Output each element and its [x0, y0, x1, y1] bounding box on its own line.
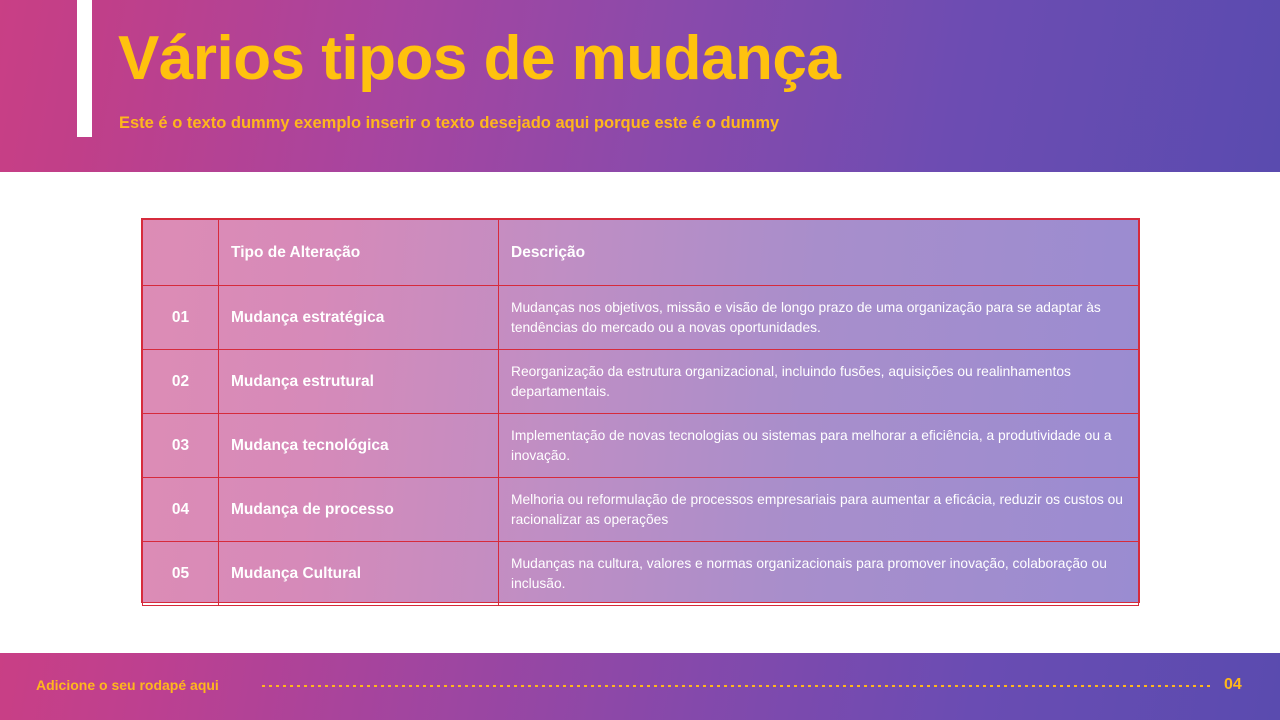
- footer-divider: [262, 685, 1214, 687]
- row-type: Mudança estrutural: [219, 350, 499, 414]
- row-description: Melhoria ou reformulação de processos em…: [499, 478, 1139, 542]
- table-header-cell-index: [143, 220, 219, 286]
- row-type: Mudança de processo: [219, 478, 499, 542]
- row-description: Mudanças nos objetivos, missão e visão d…: [499, 286, 1139, 350]
- row-number: 05: [143, 542, 219, 606]
- table-row: 04 Mudança de processo Melhoria ou refor…: [143, 478, 1139, 542]
- footer-text: Adicione o seu rodapé aqui: [36, 677, 219, 693]
- row-number: 04: [143, 478, 219, 542]
- row-description: Mudanças na cultura, valores e normas or…: [499, 542, 1139, 606]
- row-description: Reorganização da estrutura organizaciona…: [499, 350, 1139, 414]
- slide: Vários tipos de mudança Este é o texto d…: [0, 0, 1280, 720]
- change-types-table: Tipo de Alteração Descrição 01 Mudança e…: [141, 218, 1140, 603]
- row-type: Mudança Cultural: [219, 542, 499, 606]
- table-row: 05 Mudança Cultural Mudanças na cultura,…: [143, 542, 1139, 606]
- table-row: 03 Mudança tecnológica Implementação de …: [143, 414, 1139, 478]
- page-subtitle: Este é o texto dummy exemplo inserir o t…: [119, 114, 779, 133]
- table-row: 02 Mudança estrutural Reorganização da e…: [143, 350, 1139, 414]
- table-header-cell-type: Tipo de Alteração: [219, 220, 499, 286]
- row-type: Mudança tecnológica: [219, 414, 499, 478]
- table-header-cell-description: Descrição: [499, 220, 1139, 286]
- row-type: Mudança estratégica: [219, 286, 499, 350]
- table-row: 01 Mudança estratégica Mudanças nos obje…: [143, 286, 1139, 350]
- table: Tipo de Alteração Descrição 01 Mudança e…: [142, 219, 1139, 606]
- page-title: Vários tipos de mudança: [118, 26, 840, 91]
- header-accent-bar: [77, 0, 92, 137]
- row-number: 02: [143, 350, 219, 414]
- row-number: 01: [143, 286, 219, 350]
- page-number: 04: [1224, 676, 1242, 694]
- row-number: 03: [143, 414, 219, 478]
- row-description: Implementação de novas tecnologias ou si…: [499, 414, 1139, 478]
- table-header-row: Tipo de Alteração Descrição: [143, 220, 1139, 286]
